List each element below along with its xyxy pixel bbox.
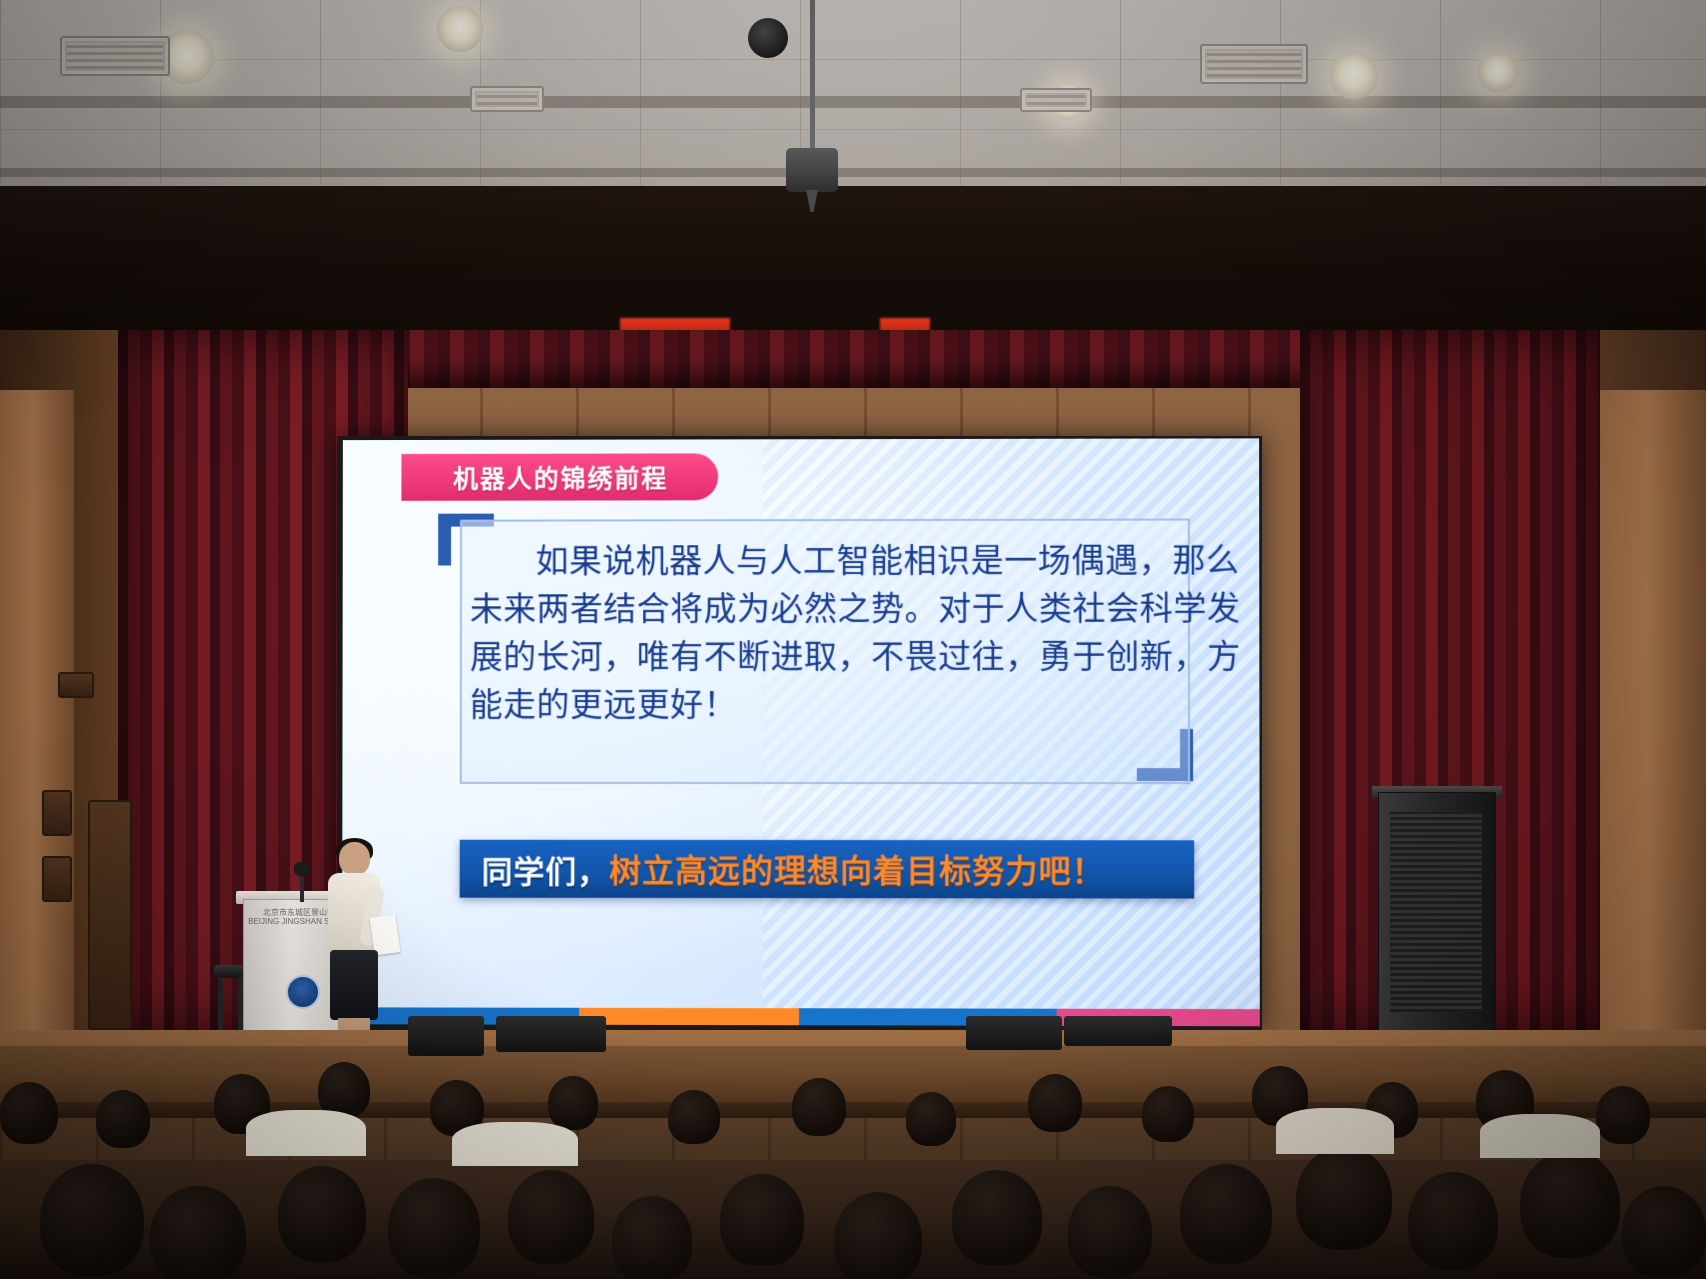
wall-fixture — [42, 790, 72, 836]
floor-monitor — [1064, 1016, 1172, 1046]
audience-head — [1142, 1086, 1194, 1142]
audience-head — [1028, 1074, 1082, 1132]
audience-head — [952, 1170, 1042, 1266]
wall-pillar-right — [1600, 390, 1706, 1030]
audience-shoulders — [246, 1110, 366, 1156]
body-line: 展的长河，唯有不断进取，不畏过往，勇于创新，方 — [470, 633, 1182, 681]
header-band: 图创未来科普系列活动 — [0, 186, 1706, 336]
audience-head — [906, 1092, 956, 1146]
ceiling-speaker-icon — [748, 18, 788, 58]
audience — [0, 1046, 1706, 1279]
audience-head — [1520, 1150, 1620, 1258]
audience-head — [720, 1174, 804, 1266]
audience-head — [388, 1178, 480, 1278]
air-vent-icon — [470, 86, 544, 112]
slide-callout-banner: 同学们， 树立高远的理想向着目标努力吧！ — [460, 840, 1195, 899]
wall-fixture — [58, 672, 94, 698]
wall-door — [88, 800, 132, 1030]
callout-white-text: 同学们， — [482, 846, 610, 891]
auditorium-photo: 图创未来科普系列活动 机器人的锦绣前程 如果说机器人与人工智能相识是一场偶遇，那… — [0, 0, 1706, 1279]
presenter-head — [339, 842, 370, 875]
audience-head — [0, 1082, 58, 1144]
audience-shoulders — [452, 1122, 578, 1166]
presenter — [322, 842, 384, 1057]
audience-head — [1596, 1086, 1650, 1144]
audience-head — [40, 1164, 144, 1276]
body-line: 能走的更远更好！ — [470, 681, 1182, 729]
air-vent-icon — [60, 36, 170, 76]
callout-orange-text: 树立高远的理想向着目标努力吧！ — [609, 846, 1105, 893]
slide-body-text: 如果说机器人与人工智能相识是一场偶遇，那么 未来两者结合将成为必然之势。对于人类… — [470, 537, 1182, 729]
audience-head — [548, 1076, 598, 1130]
ceiling-beam — [0, 96, 1706, 108]
ceiling-downlight-icon — [1330, 52, 1378, 100]
audience-head — [612, 1196, 692, 1279]
presenter-skirt — [330, 950, 378, 1020]
body-line: 如果说机器人与人工智能相识是一场偶遇，那么 — [470, 537, 1182, 586]
audience-head — [1180, 1164, 1272, 1264]
audience-head — [792, 1078, 846, 1136]
projector-icon — [786, 148, 838, 192]
ceiling-downlight-icon — [1478, 52, 1518, 92]
audience-head — [278, 1166, 366, 1262]
audience-head — [508, 1170, 594, 1264]
audience-head — [1296, 1146, 1392, 1250]
slide-title-tab: 机器人的锦绣前程 — [401, 453, 718, 500]
presentation-slide: 机器人的锦绣前程 如果说机器人与人工智能相识是一场偶遇，那么 未来两者结合将成为… — [342, 438, 1260, 1026]
floor-monitor — [966, 1016, 1062, 1050]
audience-head — [96, 1090, 150, 1148]
audience-head — [150, 1186, 246, 1279]
slide-title-text: 机器人的锦绣前程 — [453, 459, 668, 495]
strip-segment-orange — [580, 1008, 800, 1025]
audience-shoulders — [1480, 1114, 1600, 1158]
audience-head — [834, 1192, 922, 1279]
ceiling-beam — [0, 168, 1706, 177]
air-vent-icon — [1020, 88, 1092, 112]
microphone-icon — [294, 862, 310, 876]
air-vent-icon — [1200, 44, 1308, 84]
audience-head — [1408, 1172, 1498, 1270]
ceiling-downlight-icon — [437, 6, 483, 52]
audience-head — [668, 1090, 720, 1144]
projector-mount-rod — [810, 0, 815, 150]
audience-head — [1622, 1186, 1706, 1278]
body-line: 未来两者结合将成为必然之势。对于人类社会科学发 — [470, 585, 1182, 634]
wall-fixture — [42, 856, 72, 902]
wall-pillar-left — [0, 390, 74, 1030]
loudspeaker-grill — [1390, 812, 1482, 1012]
microphone-stand — [300, 872, 304, 902]
ceiling — [0, 0, 1706, 200]
school-logo-icon — [286, 975, 320, 1009]
audience-head — [1068, 1186, 1152, 1278]
audience-shoulders — [1276, 1108, 1394, 1154]
